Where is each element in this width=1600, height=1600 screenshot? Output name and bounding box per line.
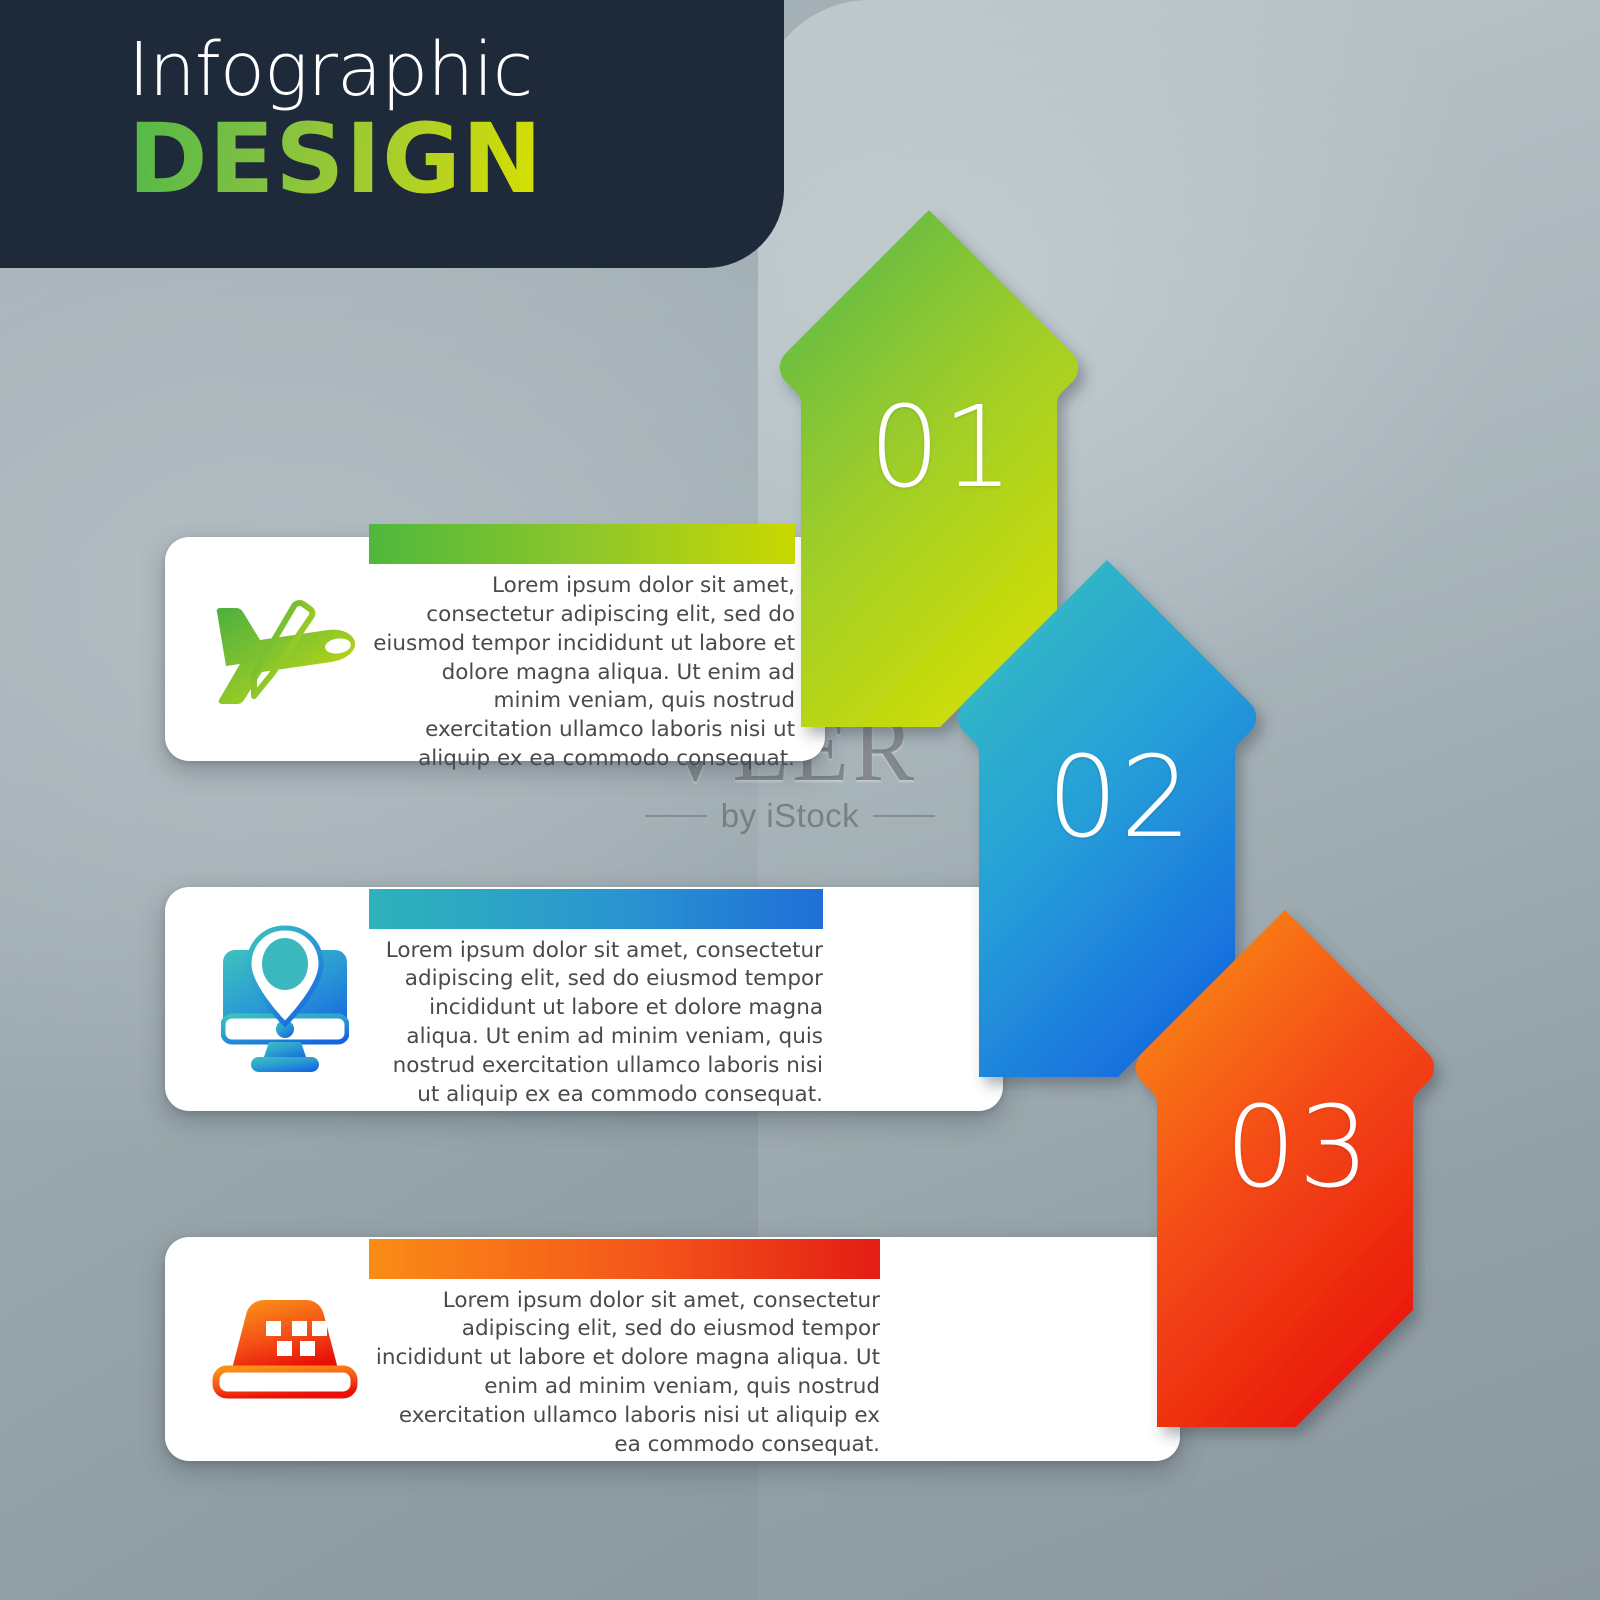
location-monitor-icon xyxy=(201,924,369,1074)
page-title-primary: Infographic xyxy=(128,34,543,107)
step-card-2-text: Lorem ipsum dolor sit amet, consectetur … xyxy=(369,937,823,1110)
step-arrow-03[interactable]: 03 xyxy=(1130,906,1440,1426)
step-card-3-body: Lorem ipsum Lorem ipsum dolor sit amet, … xyxy=(369,1239,1180,1460)
step-card-1-body: Lorem ipsum Lorem ipsum dolor sit amet, … xyxy=(369,524,825,774)
header-title-block: Infographic DESIGN xyxy=(128,34,543,208)
step-card-1-title: Lorem ipsum xyxy=(369,524,795,564)
step-card-3[interactable]: Lorem ipsum Lorem ipsum dolor sit amet, … xyxy=(165,1237,1180,1461)
airplane-icon xyxy=(201,590,369,708)
step-card-3-text: Lorem ipsum dolor sit amet, consectetur … xyxy=(369,1287,880,1460)
header-panel: Infographic DESIGN xyxy=(0,0,784,268)
step-card-3-title: Lorem ipsum xyxy=(369,1239,880,1279)
step-card-2-body: Lorem ipsum Lorem ipsum dolor sit amet, … xyxy=(369,889,1003,1110)
taxi-roof-light-icon xyxy=(201,1297,369,1401)
step-card-1-text: Lorem ipsum dolor sit amet, consectetur … xyxy=(369,572,795,774)
page-title-secondary: DESIGN xyxy=(128,111,543,209)
step-card-2-title: Lorem ipsum xyxy=(369,889,823,929)
step-card-1[interactable]: Lorem ipsum Lorem ipsum dolor sit amet, … xyxy=(165,537,825,761)
step-card-2[interactable]: Lorem ipsum Lorem ipsum dolor sit amet, … xyxy=(165,887,1003,1111)
